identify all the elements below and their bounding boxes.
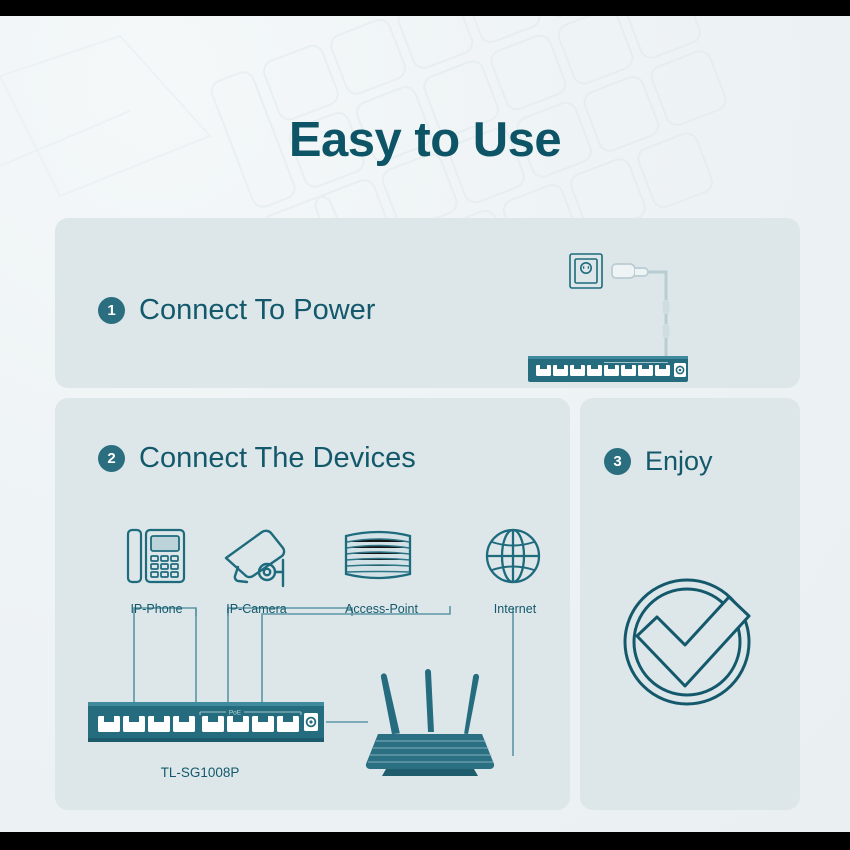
step-1-badge: 1 <box>98 297 125 324</box>
device-label-ip-phone: IP-Phone <box>108 602 205 616</box>
enjoy-check-illustration <box>615 568 765 723</box>
step-2-badge: 2 <box>98 445 125 472</box>
switch-device-small <box>528 356 688 382</box>
cable-clip-1 <box>663 300 670 314</box>
power-connection-illustration <box>520 244 720 389</box>
power-outlet-icon <box>570 254 602 288</box>
poe-label: PoE <box>229 710 242 717</box>
devices-topology-illustration: PoE <box>80 516 550 781</box>
switch-model-label: TL-SG1008P <box>120 765 280 780</box>
step-2-heading: 2 Connect The Devices <box>98 442 416 475</box>
letterbox-top <box>0 0 850 16</box>
power-plug-icon <box>612 264 648 278</box>
power-cable <box>648 272 666 364</box>
device-label-ip-camera: IP-Camera <box>208 602 305 616</box>
device-label-internet: Internet <box>468 602 562 616</box>
access-point-icon <box>346 532 410 578</box>
infographic-stage: Easy to Use 1 Connect To Power 2 Connect… <box>0 0 850 850</box>
switch-device: PoE <box>88 702 324 742</box>
ip-phone-icon <box>128 530 184 582</box>
step-3-badge: 3 <box>604 448 631 475</box>
infographic-canvas: Easy to Use 1 Connect To Power 2 Connect… <box>0 16 850 832</box>
page-title: Easy to Use <box>0 112 850 168</box>
letterbox-bottom <box>0 832 850 850</box>
device-label-access-point: Access-Point <box>330 602 433 616</box>
ip-camera-icon <box>226 531 284 586</box>
step-2-label: Connect The Devices <box>139 442 416 475</box>
step-1-heading: 1 Connect To Power <box>98 294 375 327</box>
globe-icon <box>487 530 539 582</box>
cable-clip-2 <box>663 324 670 338</box>
step-3-label: Enjoy <box>645 446 713 477</box>
step-3-heading: 3 Enjoy <box>604 446 713 477</box>
step-1-label: Connect To Power <box>139 294 375 327</box>
wifi-router-icon <box>366 669 494 776</box>
check-circle-icon <box>625 580 749 704</box>
